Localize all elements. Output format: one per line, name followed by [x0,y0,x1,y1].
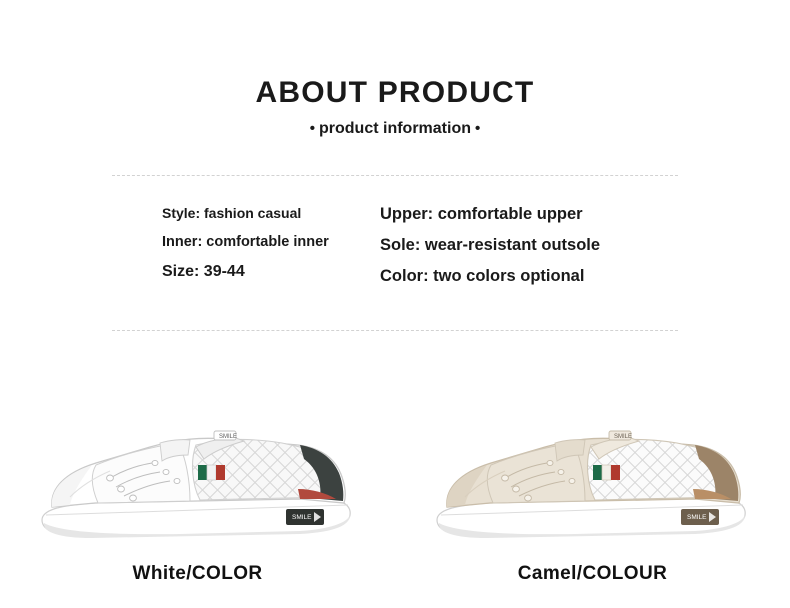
spec-style: Style: fashion casual [162,205,368,221]
page-title: ABOUT PRODUCT [0,76,790,110]
bullet-right-icon: • [471,120,484,137]
sole-logo-patch-icon: SMILE [286,509,324,525]
bullet-left-icon: • [306,120,319,137]
svg-text:SMILE: SMILE [219,434,237,440]
page-subtitle: •product information• [0,120,790,138]
spec-sole: Sole: wear-resistant outsole [380,236,678,255]
shoe-image-camel: SMILE SMILE [395,385,790,555]
about-product-page: ABOUT PRODUCT •product information• Styl… [0,0,790,608]
product-item-camel[interactable]: SMILE SMILE Camel/COLOUR [395,385,790,608]
product-caption-white: White/COLOR [0,563,395,585]
spec-color: Color: two colors optional [380,267,678,286]
flag-tab-icon [593,465,620,480]
sole-logo-patch-icon: SMILE [681,509,719,525]
product-caption-camel: Camel/COLOUR [395,563,790,585]
sneaker-illustration-camel: SMILE SMILE [395,385,790,555]
sneaker-illustration-white: SMILE SMILE [0,385,395,555]
subtitle-text: product information [319,120,471,137]
svg-text:SMILE: SMILE [292,514,312,521]
spec-column-right: Upper: comfortable upper Sole: wear-resi… [368,205,678,286]
flag-tab-icon [198,465,225,480]
svg-text:SMILE: SMILE [614,434,632,440]
spec-size: Size: 39-44 [162,263,368,281]
divider-top [112,175,678,176]
product-gallery: SMILE SMILE White/COLOR [0,385,790,608]
spec-list: Style: fashion casual Inner: comfortable… [112,205,678,286]
divider-bottom [112,330,678,331]
spec-inner: Inner: comfortable inner [162,234,368,250]
svg-text:SMILE: SMILE [687,514,707,521]
spec-upper: Upper: comfortable upper [380,205,678,224]
product-item-white[interactable]: SMILE SMILE White/COLOR [0,385,395,608]
shoe-image-white: SMILE SMILE [0,385,395,555]
spec-column-left: Style: fashion casual Inner: comfortable… [112,205,368,286]
